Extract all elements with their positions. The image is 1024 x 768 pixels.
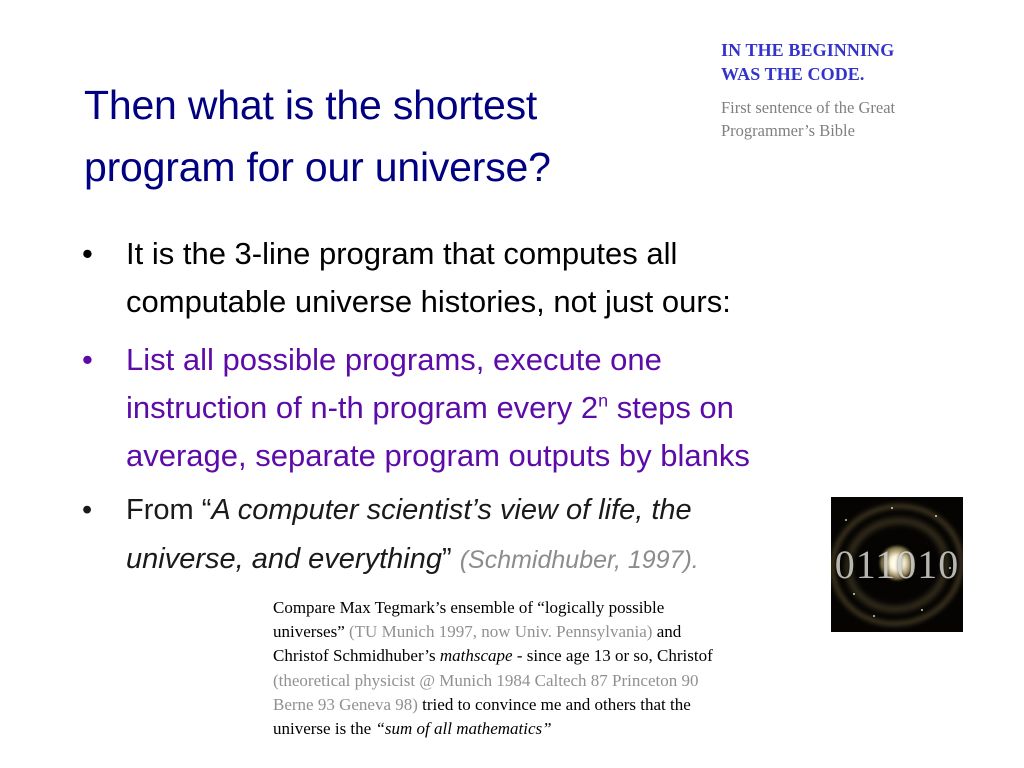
epigraph-heading-line-1: IN THE BEGINNING	[721, 38, 1011, 62]
footnote-line-2: universes” (TU Munich 1997, now Univ. Pe…	[273, 620, 813, 644]
page-title-line-2: program for our universe?	[84, 136, 704, 198]
footnote-line-3-part-a: Christof Schmidhuber’s	[273, 646, 440, 665]
galaxy-image: 011010	[831, 497, 963, 632]
footnote-line-5: Berne 93 Geneva 98) tried to convince me…	[273, 693, 813, 717]
footnote-line-2-gray: (TU Munich 1997, now Univ. Pennsylvania)	[349, 622, 652, 641]
bullet-item-1-line-2: computable universe histories, not just …	[126, 278, 962, 326]
bullet-item-3-prefix: From “	[126, 494, 211, 526]
footnote-line-1: Compare Max Tegmark’s ensemble of “logic…	[273, 596, 813, 620]
bullet-item-3-title-part-1: A computer scientist’s view of life, the	[211, 494, 691, 526]
bullet-item-1: • It is the 3-line program that computes…	[82, 230, 962, 326]
star-speck	[873, 615, 875, 617]
star-speck	[845, 519, 847, 521]
star-speck	[891, 507, 893, 509]
footnote-line-5-gray: Berne 93 Geneva 98)	[273, 695, 418, 714]
epigraph-attribution: First sentence of the Great Programmer’s…	[721, 96, 1011, 142]
epigraph-block: IN THE BEGINNING WAS THE CODE. First sen…	[721, 38, 1011, 142]
bullet-item-3-citation: (Schmidhuber, 1997).	[460, 546, 699, 574]
star-speck	[935, 515, 937, 517]
epigraph-heading-line-2: WAS THE CODE.	[721, 62, 1011, 86]
bullet-item-3-line-1: From “A computer scientist’s view of lif…	[126, 486, 842, 535]
page-title-line-1: Then what is the shortest	[84, 74, 704, 136]
star-speck	[921, 609, 923, 611]
bullet-marker-icon: •	[82, 336, 116, 384]
exponent-n: n	[598, 391, 608, 411]
star-speck	[853, 593, 855, 595]
bullet-item-3-title-part-2: universe, and everything	[126, 543, 442, 575]
bullet-item-1-text: It is the 3-line program that computes a…	[82, 230, 962, 326]
footnote-line-5-part-b: tried to convince me and others that the	[418, 695, 691, 714]
bullet-item-2-line-2: instruction of n-th program every 2n ste…	[126, 384, 982, 432]
footnote-line-6: universe is the “sum of all mathematics”	[273, 717, 813, 741]
footnote-line-2-part-a: universes”	[273, 622, 349, 641]
bullet-item-3-closing-quote: ”	[442, 543, 460, 575]
bullet-item-3: • From “A computer scientist’s view of l…	[82, 486, 842, 585]
footnote-line-4: (theoretical physicist @ Munich 1984 Cal…	[273, 669, 813, 693]
bullet-item-1-line-1: It is the 3-line program that computes a…	[126, 230, 962, 278]
page-title: Then what is the shortest program for ou…	[84, 74, 704, 198]
bullet-item-2-line-2-part-b: steps on	[608, 390, 734, 425]
epigraph-attribution-line-2: Programmer’s Bible	[721, 119, 1011, 142]
epigraph-heading: IN THE BEGINNING WAS THE CODE.	[721, 38, 1011, 86]
bullet-item-3-line-2: universe, and everything” (Schmidhuber, …	[126, 535, 842, 585]
binary-overlay-text: 011010	[831, 545, 963, 585]
footnote-line-6-part-a: universe is the	[273, 719, 375, 738]
epigraph-attribution-line-1: First sentence of the Great	[721, 96, 1011, 119]
bullet-item-3-text: From “A computer scientist’s view of lif…	[82, 486, 842, 585]
footnote-paragraph: Compare Max Tegmark’s ensemble of “logic…	[273, 596, 813, 741]
bullet-item-2-text: List all possible programs, execute one …	[82, 336, 982, 480]
footnote-line-3-part-b: - since age 13 or so, Christof	[513, 646, 713, 665]
footnote-mathscape-term: mathscape	[440, 646, 513, 665]
footnote-sum-of-all-mathematics: “sum of all mathematics”	[375, 719, 551, 738]
bullet-item-2-line-2-part-a: instruction of n-th program every 2	[126, 390, 598, 425]
bullet-item-2: • List all possible programs, execute on…	[82, 336, 982, 480]
bullet-item-2-line-3: average, separate program outputs by bla…	[126, 432, 982, 480]
footnote-line-2-part-b: and	[652, 622, 681, 641]
bullet-marker-icon: •	[82, 486, 116, 535]
bullet-marker-icon: •	[82, 230, 116, 278]
slide-canvas: Then what is the shortest program for ou…	[0, 0, 1024, 768]
bullet-item-2-line-1: List all possible programs, execute one	[126, 336, 982, 384]
footnote-line-3: Christof Schmidhuber’s mathscape - since…	[273, 644, 813, 668]
